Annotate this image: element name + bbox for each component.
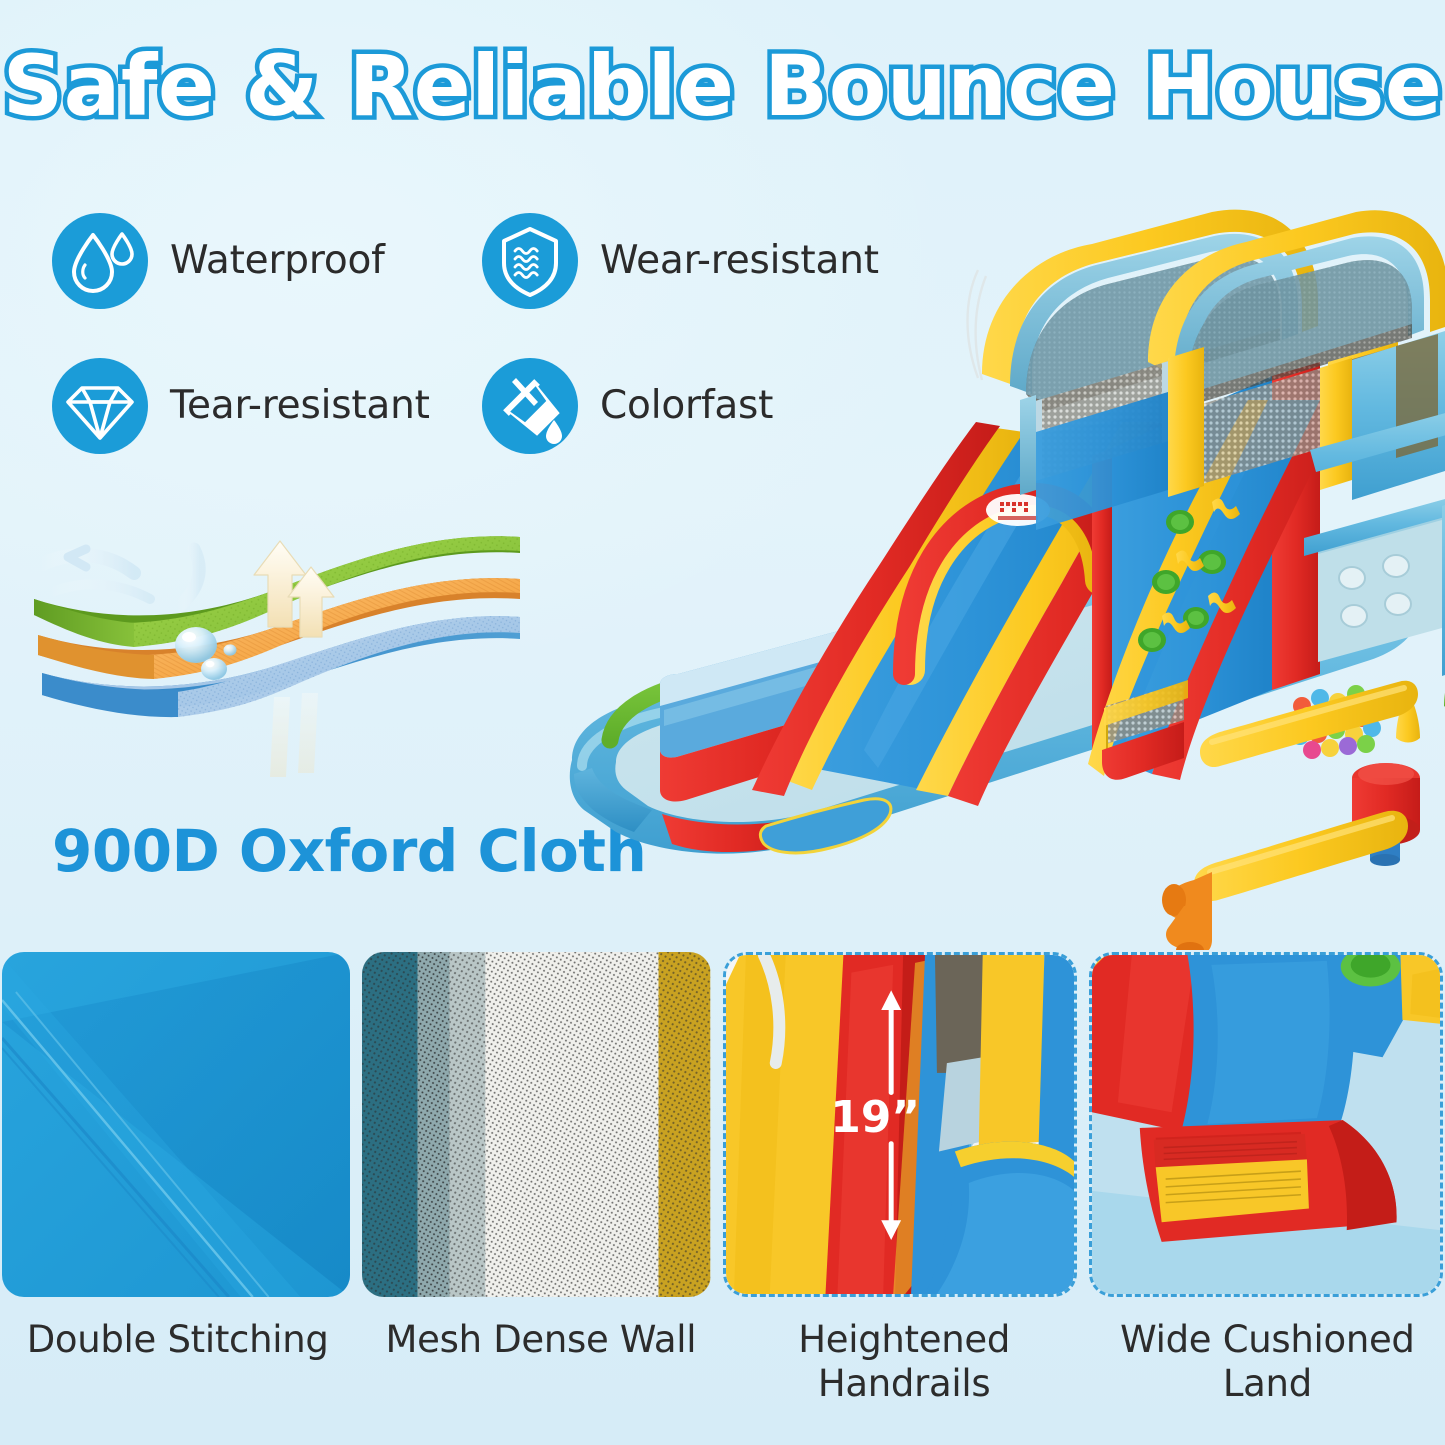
caption-heightened-handrails: Heightened Handrails [729, 1318, 1080, 1405]
air-flow-streaks [40, 549, 199, 607]
thumbnail-mesh-dense-wall[interactable] [362, 952, 710, 1297]
caption-double-stitching: Double Stitching [2, 1318, 353, 1405]
thumbnail-wide-cushioned-land[interactable] [1089, 952, 1443, 1297]
feature-label-tear-resistant: Tear-resistant [170, 383, 430, 428]
caption-mesh-dense-wall: Mesh Dense Wall [365, 1318, 716, 1405]
svg-text:19”: 19” [830, 1093, 920, 1143]
product-hero-image [512, 150, 1445, 950]
page-title: Safe & Reliable Bounce House [0, 44, 1445, 128]
thumbnail-heightened-handrails[interactable]: 19” [723, 952, 1077, 1297]
detail-thumbnail-strip: 19” [0, 952, 1445, 1302]
caption-wide-cushioned-land: Wide Cushioned Land [1092, 1318, 1443, 1405]
fabric-layers-illustration [28, 487, 568, 807]
thumbnail-double-stitching[interactable] [2, 952, 350, 1297]
infographic-page: Safe & Reliable Bounce House Waterproof [0, 0, 1445, 1445]
feature-label-waterproof: Waterproof [170, 238, 385, 283]
feature-tear-resistant: Tear-resistant [52, 333, 462, 478]
diamond-icon [52, 358, 148, 454]
feature-waterproof: Waterproof [52, 188, 462, 333]
water-drop-icon [52, 213, 148, 309]
water-cannon [1162, 811, 1408, 950]
thumbnail-captions: Double Stitching Mesh Dense Wall Heighte… [0, 1318, 1445, 1405]
page-title-text: Safe & Reliable Bounce House [3, 44, 1443, 128]
